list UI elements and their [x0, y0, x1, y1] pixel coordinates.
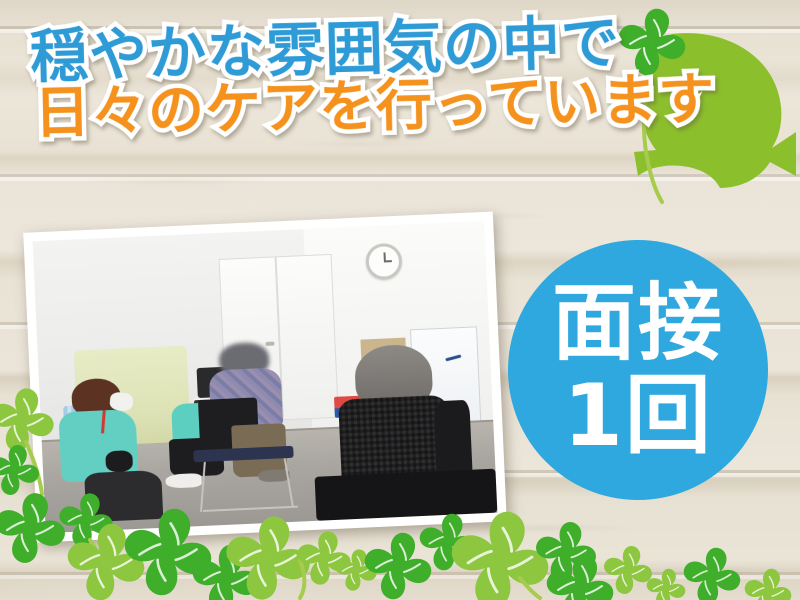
- photo-frame: [23, 211, 507, 542]
- poster-canvas: 穏やかな雰囲気の中で 日々のケアを行っています: [0, 0, 800, 600]
- face-mask-icon: [109, 391, 133, 411]
- badge-bottom-text: 1回: [563, 373, 713, 459]
- staff-middle-shoe: [165, 473, 202, 488]
- interview-count-badge: 面接 1回: [508, 240, 768, 500]
- photo-image: [33, 221, 498, 533]
- staff-left-sleeve: [105, 450, 133, 472]
- resident-front-chair: [315, 469, 498, 521]
- badge-top-text: 面接: [552, 281, 724, 365]
- staff-left-lap: [84, 469, 163, 522]
- door-knob-icon: [266, 341, 275, 345]
- resident-front-arm: [434, 400, 474, 477]
- photo-card: [23, 211, 507, 542]
- room-door-right: [275, 254, 339, 420]
